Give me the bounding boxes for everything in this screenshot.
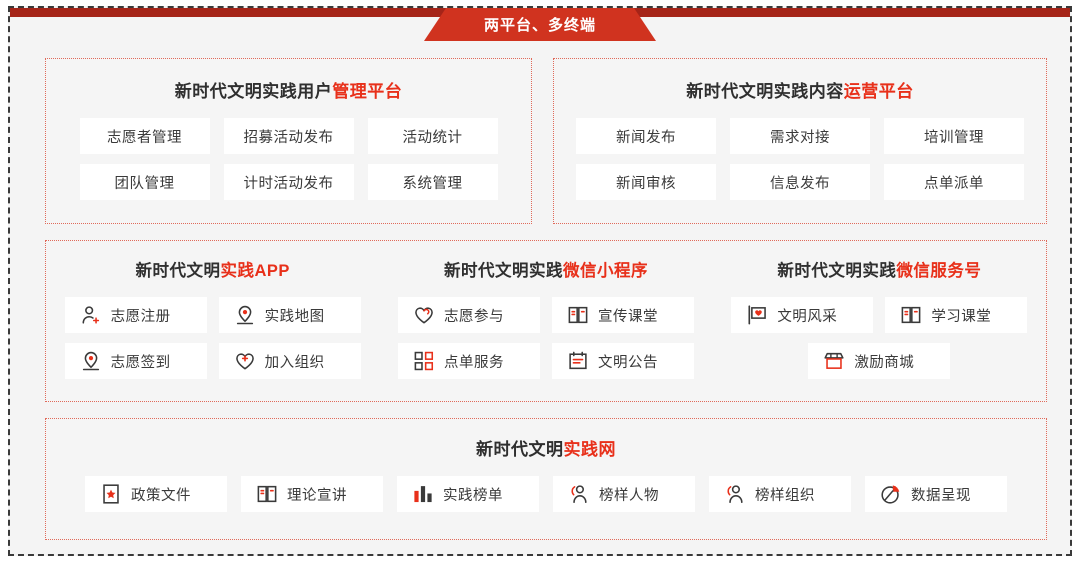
button-label: 加入组织	[265, 351, 325, 372]
document-star-icon	[100, 483, 122, 505]
website-title: 新时代文明实践网	[46, 435, 1046, 460]
flag-heart-icon	[746, 304, 768, 326]
button-label: 培训管理	[924, 126, 984, 147]
button-label: 活动统计	[403, 126, 463, 147]
button-label: 文明风采	[777, 305, 837, 326]
platform-button[interactable]: 信息发布	[730, 164, 870, 200]
panel-terminals: 新时代文明实践APP 志愿注册	[45, 240, 1047, 402]
platform-button[interactable]: 志愿者管理	[80, 118, 210, 154]
person-add-icon	[80, 304, 102, 326]
terminal-button[interactable]: 激励商城	[808, 343, 950, 379]
heart-icon	[413, 304, 435, 326]
website-button[interactable]: 数据呈现	[865, 476, 1007, 512]
ribbon-label: 两平台、多终端	[484, 14, 596, 35]
platform-button[interactable]: 活动统计	[368, 118, 498, 154]
terminal-button[interactable]: 志愿签到	[65, 343, 207, 379]
button-label: 团队管理	[115, 172, 175, 193]
terminal-column-app: 新时代文明实践APP 志愿注册	[46, 241, 379, 401]
button-label: 数据呈现	[911, 484, 971, 505]
platform-button[interactable]: 新闻发布	[576, 118, 716, 154]
button-label: 政策文件	[131, 484, 191, 505]
button-label: 学习课堂	[931, 305, 991, 326]
platform-button[interactable]: 招募活动发布	[224, 118, 354, 154]
map-pin-icon	[234, 304, 256, 326]
title-highlight: 运营平台	[844, 82, 914, 101]
button-label: 计时活动发布	[244, 172, 334, 193]
platform-button[interactable]: 系统管理	[368, 164, 498, 200]
terminal-service-account-grid: 文明风采 学习课堂	[713, 297, 1046, 379]
title-highlight: 管理平台	[332, 82, 402, 101]
website-button-grid: 政策文件 理论宣讲	[46, 476, 1046, 512]
title-plain: 新时代文明实践内容	[686, 82, 844, 101]
button-label: 理论宣讲	[287, 484, 347, 505]
poster-frame: 两平台、多终端 新时代文明实践用户管理平台 志愿者管理 招募活动发布 活动统计 …	[8, 6, 1072, 556]
platform-button[interactable]: 团队管理	[80, 164, 210, 200]
open-book-icon	[900, 304, 922, 326]
button-label: 志愿签到	[111, 351, 171, 372]
title-highlight: 微信服务号	[896, 262, 981, 280]
button-label: 志愿参与	[444, 305, 504, 326]
terminal-button[interactable]: 实践地图	[219, 297, 361, 333]
panel-user-platform-title: 新时代文明实践用户管理平台	[46, 77, 531, 102]
title-plain: 新时代文明实践	[777, 262, 896, 280]
person-icon	[568, 483, 590, 505]
website-button[interactable]: 榜样人物	[553, 476, 695, 512]
terminal-button[interactable]: 宣传课堂	[552, 297, 694, 333]
website-button[interactable]: 实践榜单	[397, 476, 539, 512]
button-label: 志愿者管理	[107, 126, 182, 147]
shop-icon	[823, 350, 845, 372]
terminal-button[interactable]: 学习课堂	[885, 297, 1027, 333]
button-label: 宣传课堂	[598, 305, 658, 326]
terminal-miniprogram-grid: 志愿参与 宣传课堂	[379, 297, 712, 379]
platform-button[interactable]: 点单派单	[884, 164, 1024, 200]
button-label: 志愿注册	[111, 305, 171, 326]
website-button[interactable]: 政策文件	[85, 476, 227, 512]
title-highlight: 实践APP	[220, 262, 289, 280]
button-label: 激励商城	[854, 351, 914, 372]
terminal-button[interactable]: 志愿参与	[398, 297, 540, 333]
service-blocks-icon	[413, 350, 435, 372]
panel-user-platform: 新时代文明实践用户管理平台 志愿者管理 招募活动发布 活动统计 团队管理 计时活…	[45, 58, 532, 224]
button-label: 系统管理	[403, 172, 463, 193]
open-book-icon	[567, 304, 589, 326]
terminal-button[interactable]: 加入组织	[219, 343, 361, 379]
terminal-column-miniprogram: 新时代文明实践微信小程序 志愿参与	[379, 241, 712, 401]
title-plain: 新时代文明	[476, 440, 564, 459]
terminal-miniprogram-title: 新时代文明实践微信小程序	[379, 257, 712, 281]
platform-button[interactable]: 计时活动发布	[224, 164, 354, 200]
bar-chart-icon	[412, 483, 434, 505]
title-highlight: 微信小程序	[563, 262, 648, 280]
notice-board-icon	[567, 350, 589, 372]
section-platforms: 新时代文明实践用户管理平台 志愿者管理 招募活动发布 活动统计 团队管理 计时活…	[10, 58, 1070, 224]
terminal-app-title: 新时代文明实践APP	[46, 257, 379, 281]
location-check-icon	[80, 350, 102, 372]
button-label: 实践榜单	[443, 484, 503, 505]
open-book-icon	[256, 483, 278, 505]
button-label: 实践地图	[265, 305, 325, 326]
header-ribbon: 两平台、多终端	[424, 8, 656, 41]
button-label: 需求对接	[770, 126, 830, 147]
panel-website: 新时代文明实践网 政策文件	[45, 418, 1047, 540]
button-label: 榜样组织	[755, 484, 815, 505]
button-label: 新闻审核	[616, 172, 676, 193]
terminal-button[interactable]: 文明风采	[731, 297, 873, 333]
terminal-button[interactable]: 文明公告	[552, 343, 694, 379]
terminal-button[interactable]: 志愿注册	[65, 297, 207, 333]
heart-plus-icon	[234, 350, 256, 372]
platform-button[interactable]: 培训管理	[884, 118, 1024, 154]
terminal-service-account-title: 新时代文明实践微信服务号	[713, 257, 1046, 281]
button-label: 点单服务	[444, 351, 504, 372]
button-label: 文明公告	[598, 351, 658, 372]
button-label: 新闻发布	[616, 126, 676, 147]
title-plain: 新时代文明实践	[444, 262, 563, 280]
terminal-button[interactable]: 点单服务	[398, 343, 540, 379]
button-label: 招募活动发布	[244, 126, 334, 147]
button-label: 信息发布	[770, 172, 830, 193]
platform-button[interactable]: 需求对接	[730, 118, 870, 154]
website-button[interactable]: 榜样组织	[709, 476, 851, 512]
terminal-app-grid: 志愿注册 实践地图	[46, 297, 379, 379]
terminal-column-service-account: 新时代文明实践微信服务号 文明风采	[713, 241, 1046, 401]
user-platform-button-grid: 志愿者管理 招募活动发布 活动统计 团队管理 计时活动发布 系统管理	[46, 118, 531, 200]
title-highlight: 实践网	[564, 440, 617, 459]
button-label: 榜样人物	[599, 484, 659, 505]
website-button[interactable]: 理论宣讲	[241, 476, 383, 512]
people-icon	[724, 483, 746, 505]
panel-ops-platform-title: 新时代文明实践内容运营平台	[554, 77, 1046, 102]
panel-content-ops-platform: 新时代文明实践内容运营平台 新闻发布 需求对接 培训管理 新闻审核 信息发布 点…	[553, 58, 1047, 224]
title-plain: 新时代文明实践用户	[175, 82, 333, 101]
platform-button[interactable]: 新闻审核	[576, 164, 716, 200]
button-label: 点单派单	[924, 172, 984, 193]
section-terminals: 新时代文明实践APP 志愿注册	[10, 240, 1070, 402]
pie-chart-icon	[880, 483, 902, 505]
section-website: 新时代文明实践网 政策文件	[10, 418, 1070, 540]
ops-platform-button-grid: 新闻发布 需求对接 培训管理 新闻审核 信息发布 点单派单	[554, 118, 1046, 200]
title-plain: 新时代文明	[135, 262, 220, 280]
